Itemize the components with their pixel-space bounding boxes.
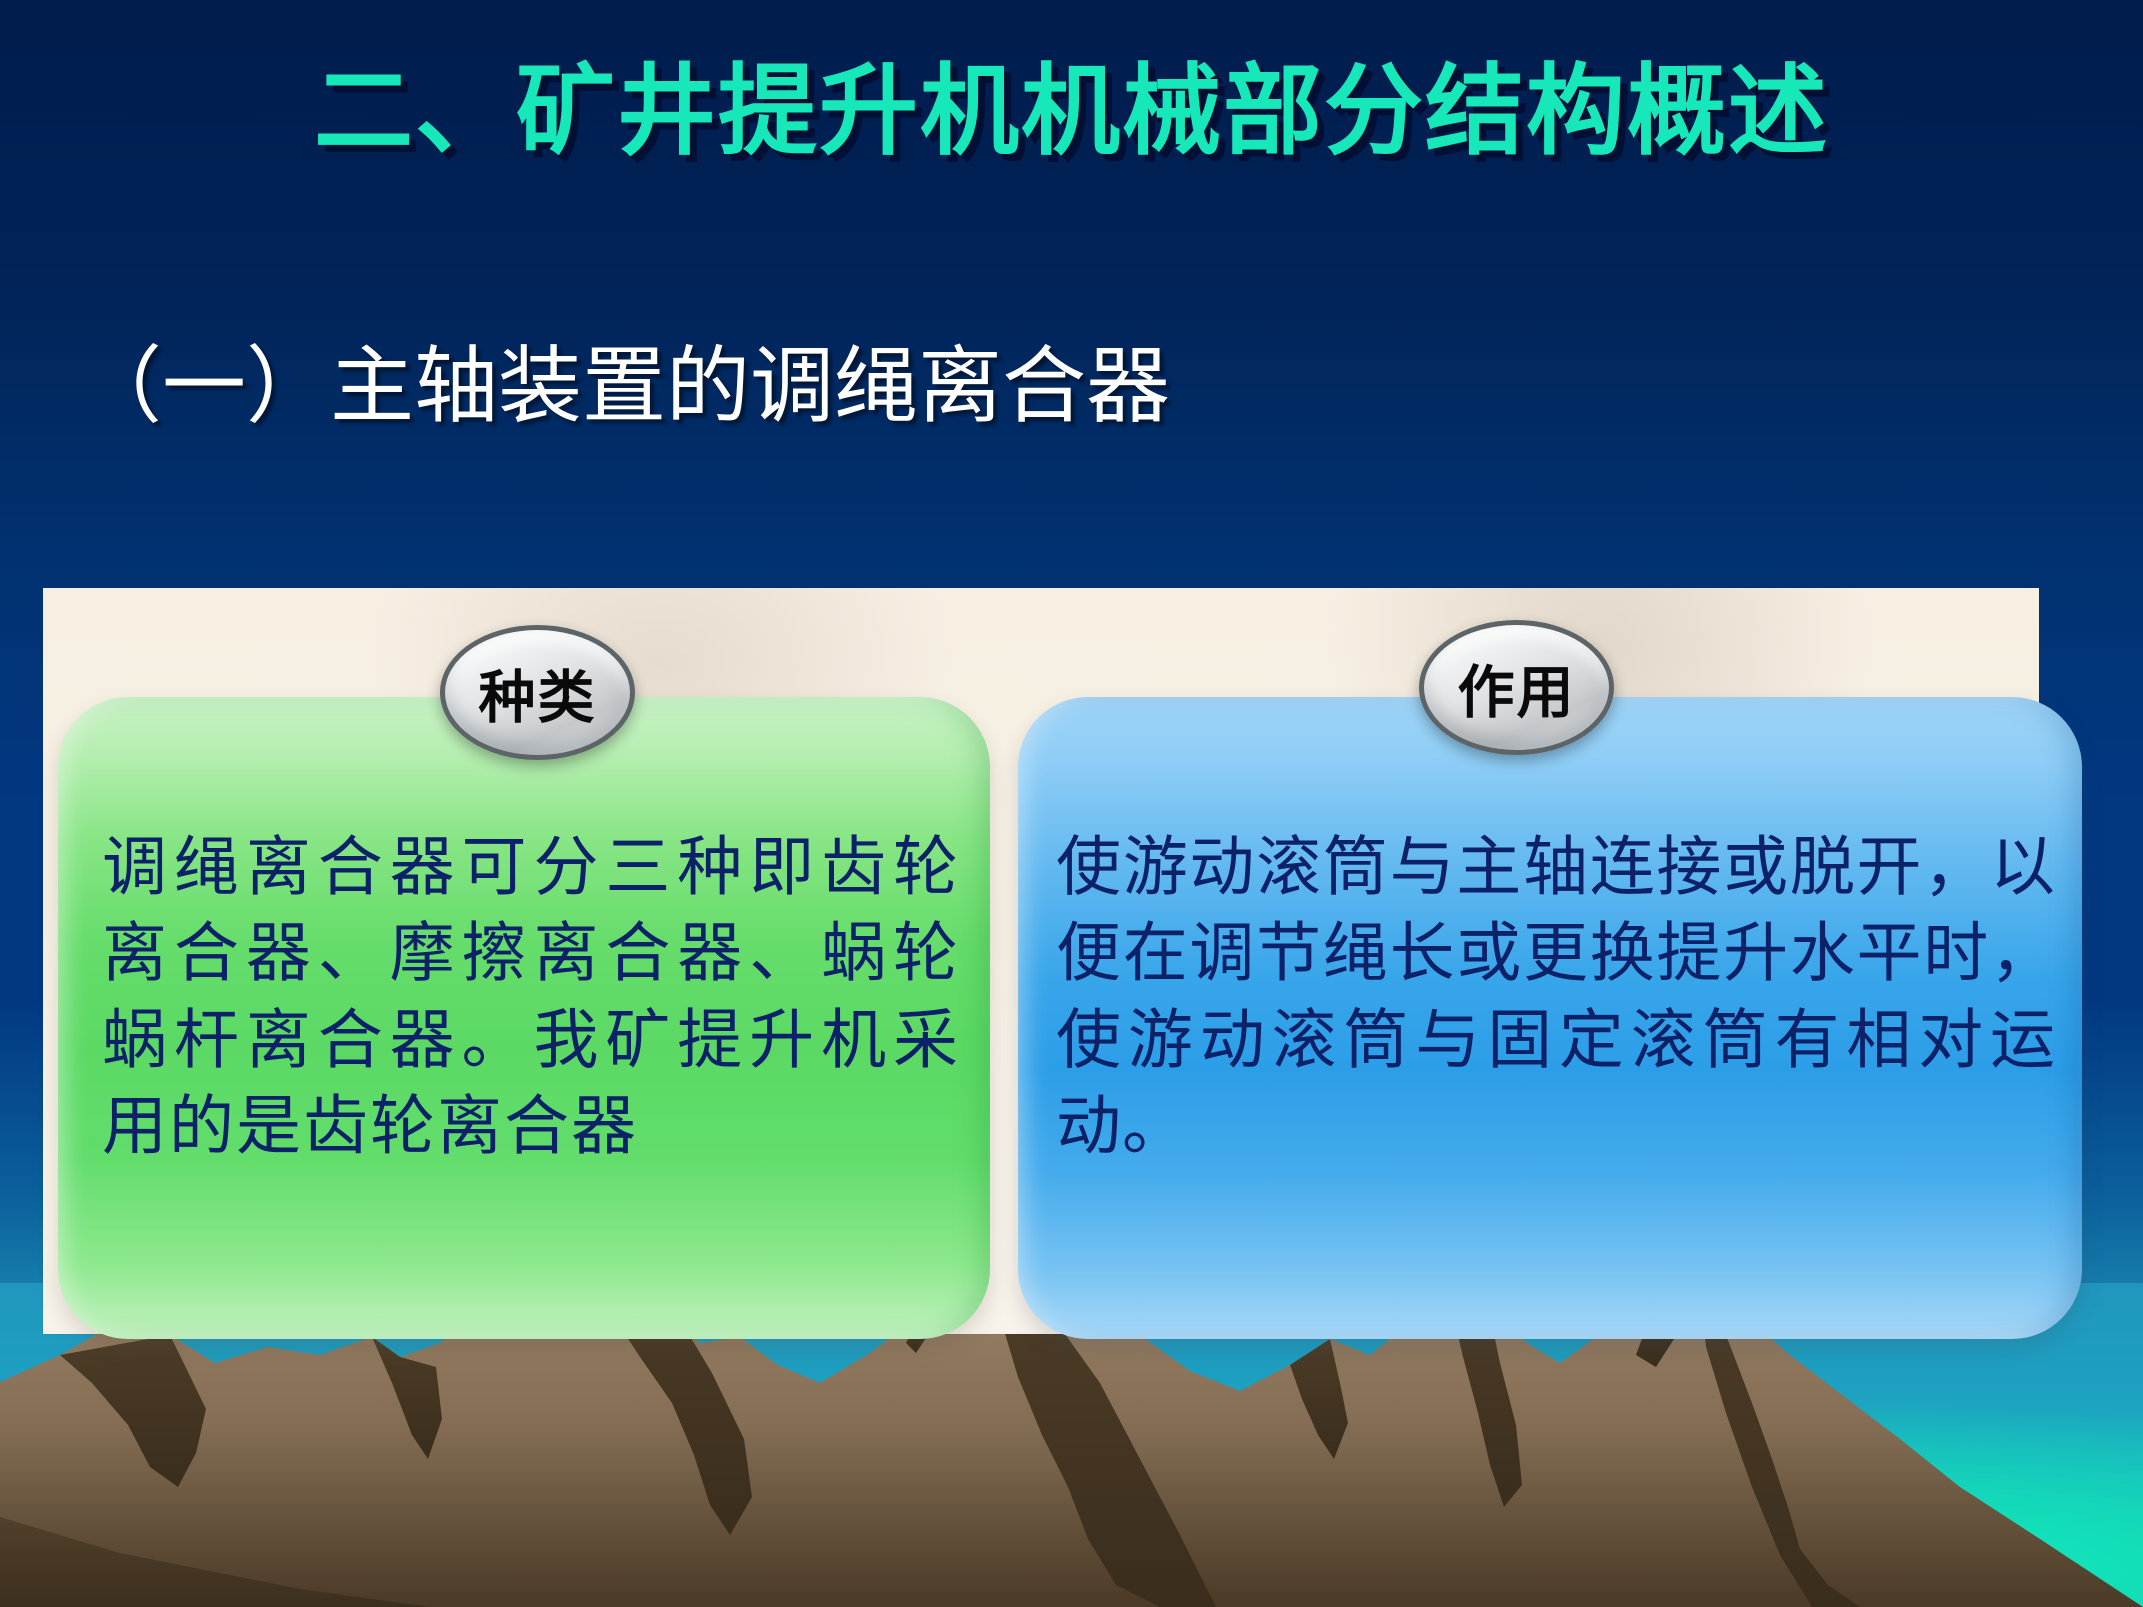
badge-types: 种类 — [440, 625, 635, 760]
presentation-slide: 二、矿井提升机机械部分结构概述 （一）主轴装置的调绳离合器 调绳离合器可分三种即… — [0, 0, 2143, 1607]
card-types: 调绳离合器可分三种即齿轮离合器、摩擦离合器、蜗轮蜗杆离合器。我矿提升机采用的是齿… — [58, 697, 990, 1339]
card-function: 使游动滚筒与主轴连接或脱开，以便在调节绳长或更换提升水平时，使游动滚筒与固定滚筒… — [1018, 697, 2082, 1339]
page-title: 二、矿井提升机机械部分结构概述 — [0, 52, 2143, 171]
card-function-body: 使游动滚筒与主轴连接或脱开，以便在调节绳长或更换提升水平时，使游动滚筒与固定滚筒… — [1056, 825, 2056, 1171]
badge-function: 作用 — [1419, 620, 1614, 755]
card-types-body: 调绳离合器可分三种即齿轮离合器、摩擦离合器、蜗轮蜗杆离合器。我矿提升机采用的是齿… — [102, 825, 960, 1171]
section-subtitle: （一）主轴装置的调绳离合器 — [78, 338, 1170, 439]
